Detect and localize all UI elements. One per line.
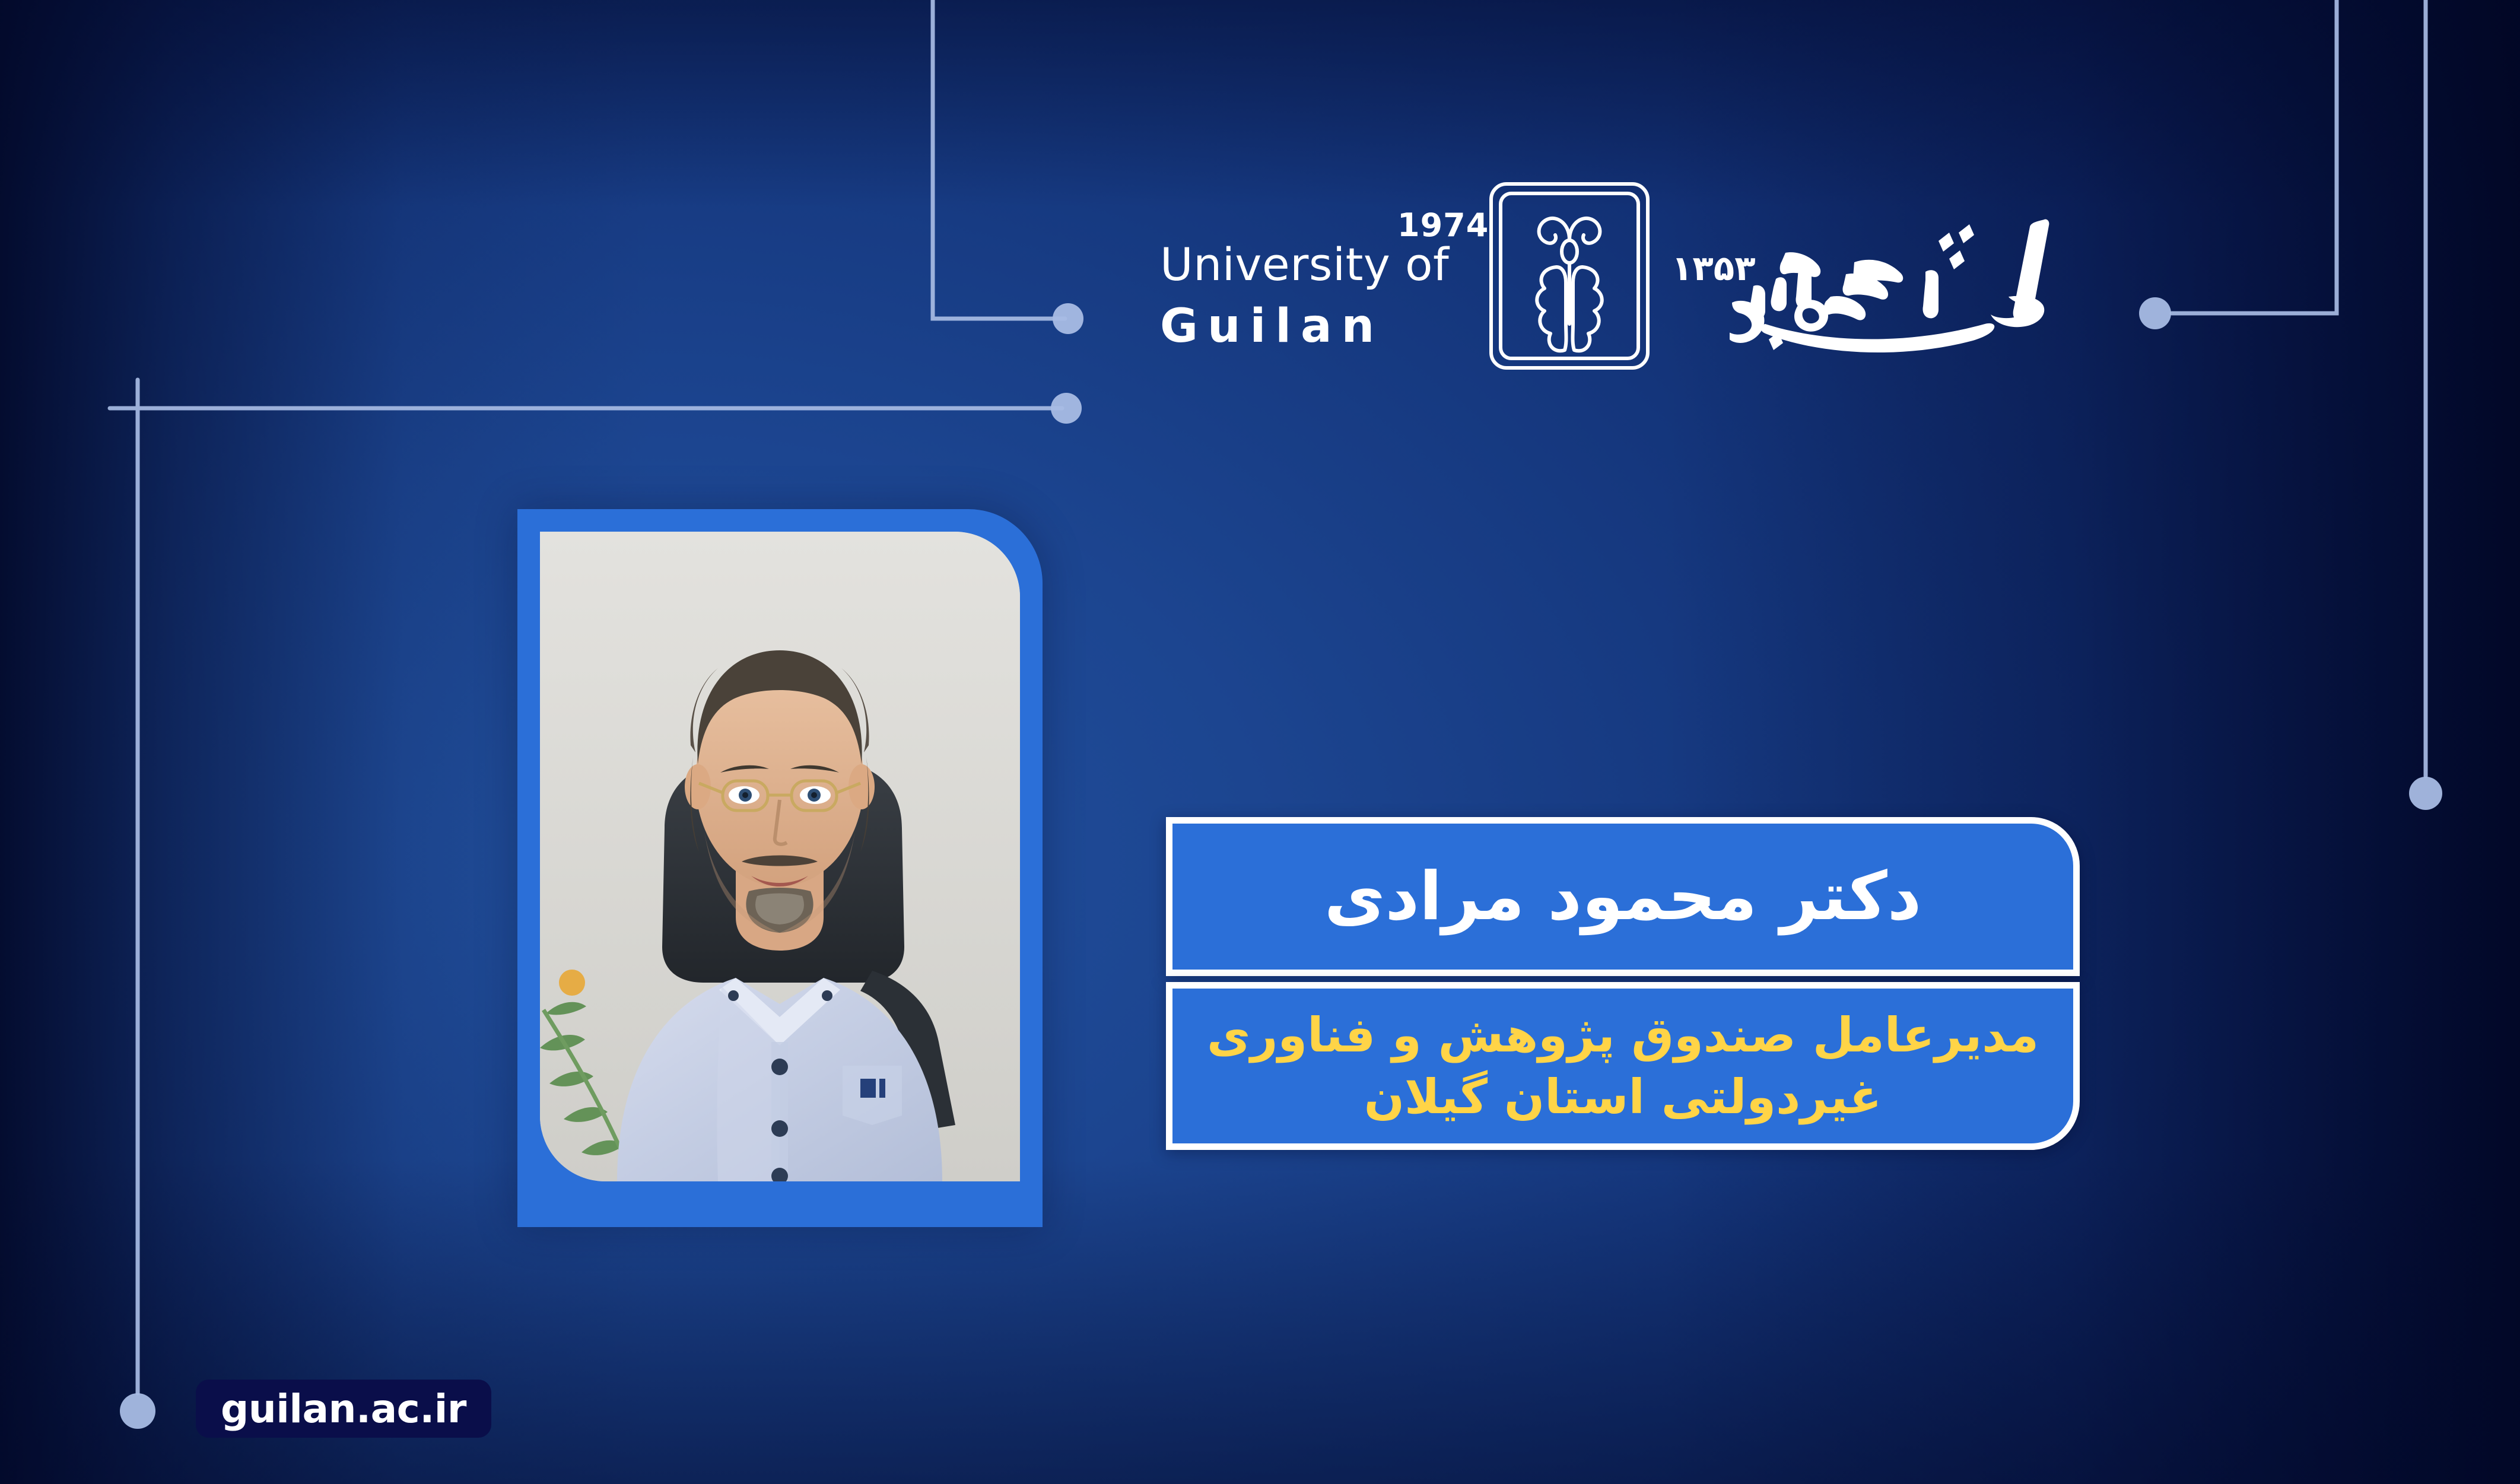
website-url-text: guilan.ac.ir <box>221 1386 466 1432</box>
logo-persian-wordmark: دانشگاه گیلان <box>1730 184 2068 374</box>
deco-dot-right-elbow <box>2139 297 2171 329</box>
logo-english-name: University of Guilan <box>1160 242 1469 354</box>
deco-dot-top-elbow <box>1053 303 1083 334</box>
deco-dot-left-vertical <box>120 1393 155 1429</box>
speaker-title-line1: مدیرعامل صندوق پژوهش و فناوری <box>1207 1005 2039 1066</box>
guilan-emblem-icon <box>1480 178 1658 374</box>
website-url-badge[interactable]: guilan.ac.ir <box>196 1380 491 1438</box>
portrait-image: Portrait of Dr. Mahmoud Moradi seated in… <box>540 532 1020 1181</box>
speaker-title-line2: غیردولتی استان گیلان <box>1364 1066 1882 1128</box>
university-logo: 1974 University of Guilan ۱۳۵۳ دانشگاه گ… <box>1160 178 2074 380</box>
speaker-name-badge: دکتر محمود مرادی <box>1166 817 2080 976</box>
deco-line-top-elbow <box>933 0 1065 319</box>
deco-dot-left-horizontal <box>1051 393 1082 424</box>
portrait-frame: Portrait of Dr. Mahmoud Moradi seated in… <box>517 509 1043 1227</box>
deco-dot-right-vertical <box>2409 777 2442 810</box>
speaker-title-badge: مدیرعامل صندوق پژوهش و فناوری غیردولتی ا… <box>1166 982 2080 1150</box>
logo-english-line1: University of <box>1160 242 1469 287</box>
logo-english-line2: Guilan <box>1160 299 1469 354</box>
deco-line-right-elbow <box>2172 0 2337 313</box>
portrait-photo: Portrait of Dr. Mahmoud Moradi seated in… <box>540 532 1020 1181</box>
poster-canvas: 1974 University of Guilan ۱۳۵۳ دانشگاه گ… <box>0 0 2520 1484</box>
speaker-name-text: دکتر محمود مرادی <box>1324 858 1921 935</box>
